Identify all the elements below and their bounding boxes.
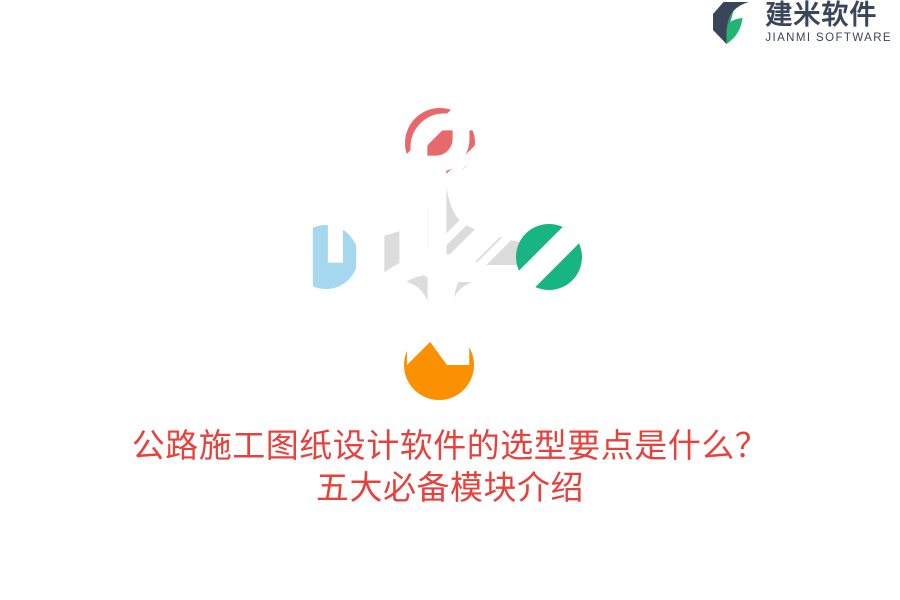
brand-logo: 建米软件 JIANMI SOFTWARE <box>709 0 892 46</box>
node-bottom-idea[interactable] <box>404 330 474 400</box>
four-node-star-diagram <box>280 95 600 415</box>
page-title: 公路施工图纸设计软件的选型要点是什么？ 五大必备模块介绍 <box>0 425 900 508</box>
page-title-line-1: 公路施工图纸设计软件的选型要点是什么？ <box>0 425 900 467</box>
page-title-line-2: 五大必备模块介绍 <box>0 467 900 509</box>
brand-text-block: 建米软件 JIANMI SOFTWARE <box>765 1 892 45</box>
brand-name-en: JIANMI SOFTWARE <box>765 33 892 45</box>
brand-name-cn: 建米软件 <box>765 1 892 29</box>
jianmi-logo-icon <box>709 0 757 46</box>
